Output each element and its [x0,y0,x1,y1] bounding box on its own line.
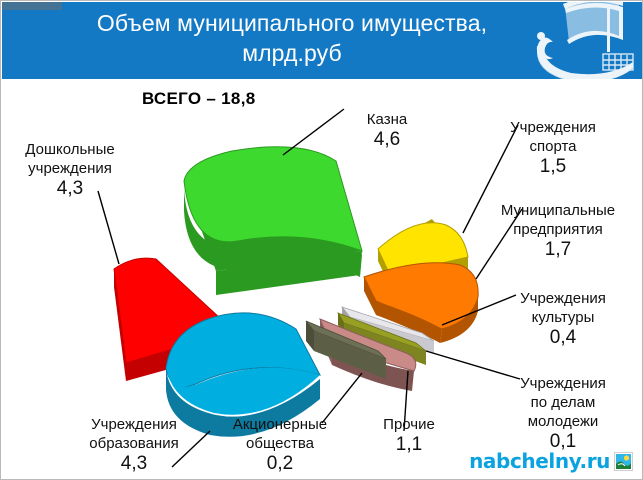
callout-ao-title: Акционерные общества [233,416,327,452]
callout-prochie-title: Прочие [383,416,435,433]
callout-kultura-value: 0,4 [488,327,638,349]
callout-kultura-title: Учреждения культуры [520,290,606,326]
callout-obrazovanie-title: Учреждения образования [89,416,178,452]
callout-doshkolnye-title: Дошкольные учреждения [25,141,114,177]
callout-doshkolnye: Дошкольные учреждения 4,3 [6,121,134,219]
callout-doshkolnye-value: 4,3 [6,178,134,200]
callout-obrazovanie: Учреждения образования 4,3 [64,396,204,480]
callout-kazna-title: Казна [367,111,407,128]
callout-munpred-title: Муниципальные предприятия [501,202,615,238]
chart-area: ВСЕГО – 18,8 [2,79,643,479]
callout-prochie: Прочие 1,1 [364,396,454,475]
callout-molodezh-title: Учреждения по делам молодежи [520,375,606,430]
callout-kazna: Казна 4,6 [332,91,442,170]
watermark[interactable]: nabchelny.ru [469,449,633,473]
page-title: Объем муниципального имущества, млрд.руб [62,8,522,68]
watermark-icon [614,452,633,471]
callout-kultura: Учреждения культуры 0,4 [488,270,638,368]
header-corner-shadow [2,2,62,10]
callout-prochie-value: 1,1 [364,434,454,456]
callout-munpred: Муниципальные предприятия 1,7 [478,182,638,280]
callout-sport-value: 1,5 [478,156,628,178]
callout-sport-title: Учреждения спорта [510,119,596,155]
callout-kazna-value: 4,6 [332,129,442,151]
watermark-text[interactable]: nabchelny.ru [469,449,610,473]
nabchelny-ship-emblem-icon [519,2,639,79]
callout-ao-value: 0,2 [210,453,350,475]
callout-ao: Акционерные общества 0,2 [210,396,350,480]
callout-munpred-value: 1,7 [478,239,638,261]
bottom-strip [2,476,643,478]
callout-obrazovanie-value: 4,3 [64,453,204,475]
slide-header: Объем муниципального имущества, млрд.руб [2,2,643,79]
slide-canvas: Объем муниципального имущества, млрд.руб [0,0,643,480]
